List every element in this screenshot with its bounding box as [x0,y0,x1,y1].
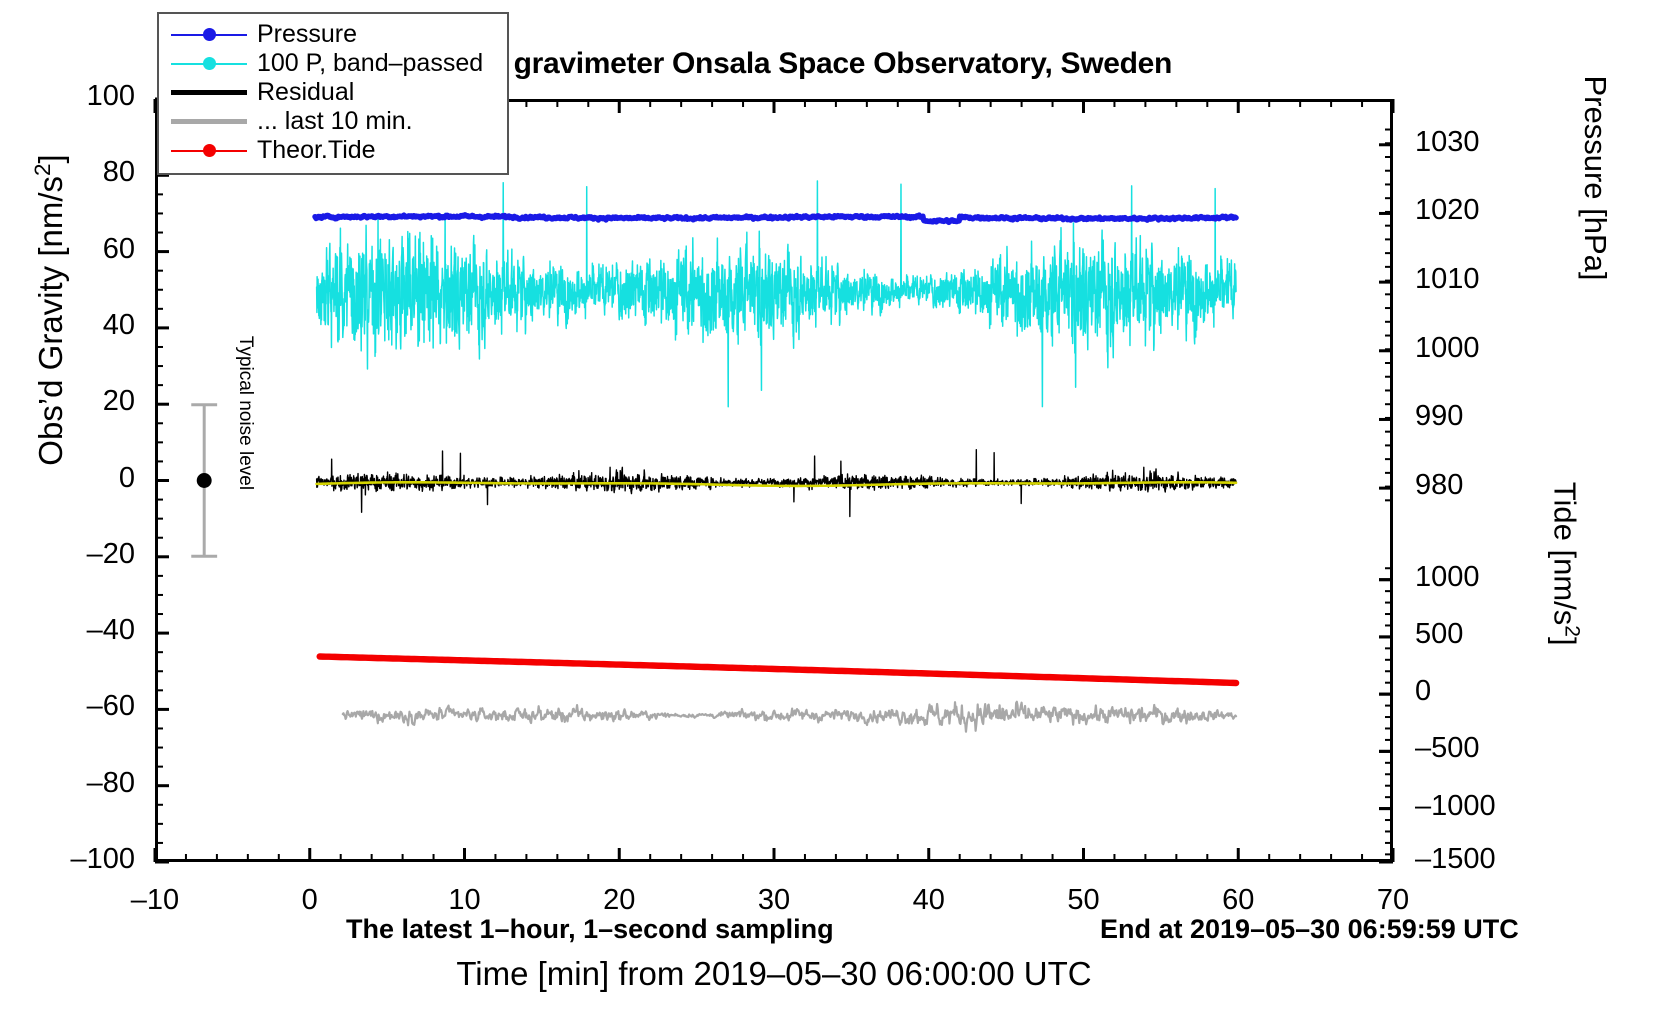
x-tick-label: 40 [869,884,989,917]
legend-item-label: Residual [251,78,354,107]
legend-line-swatch [171,90,247,95]
legend-item-1: 100 P, band–passed [167,49,499,78]
y-tick-label-left: 20 [15,385,135,418]
y-tick-label-left: 40 [15,309,135,342]
y-tick-label-left: –40 [15,614,135,647]
y-tick-label-left: –100 [15,843,135,876]
y-tick-label-tide: 0 [1415,675,1545,708]
x-tick-label: 70 [1333,884,1453,917]
series-theor-tide [320,657,1236,683]
legend-item-label: Theor.Tide [251,136,376,165]
y-tick-label-pressure: 1030 [1415,126,1545,159]
y-tick-label-pressure: 980 [1415,469,1545,502]
y-tick-label-tide: 1000 [1415,561,1545,594]
legend: Pressure100 P, band–passedResidual... la… [157,12,509,175]
y-tick-label-pressure: 1020 [1415,194,1545,227]
y-tick-label-left: –20 [15,538,135,571]
y-axis-title-tide: Tide [nm/s2] [1546,434,1583,694]
y-tick-label-left: 60 [15,233,135,266]
legend-dot-marker [203,144,216,157]
legend-line-swatch [171,119,247,124]
legend-key-icon [167,54,251,74]
series-pressure [315,215,1236,223]
data-series-canvas [158,102,1390,859]
legend-key-icon [167,83,251,103]
y-tick-label-left: 80 [15,156,135,189]
y-tick-label-left: –60 [15,690,135,723]
legend-key-icon [167,25,251,45]
annotation-noise-center-dot [197,473,212,488]
y-tick-label-pressure: 990 [1415,400,1545,433]
legend-item-label: Pressure [251,20,357,49]
annotation-noise-bar [191,405,217,556]
x-tick-label: 60 [1178,884,1298,917]
y-tick-label-tide: –1500 [1415,843,1545,876]
legend-key-icon [167,112,251,132]
y-tick-label-pressure: 1010 [1415,263,1545,296]
x-tick-label: 20 [559,884,679,917]
legend-dot-marker [203,28,216,41]
plot-area: The latest 1–hour, 1–second sampling End… [155,99,1393,862]
gravimeter-figure: SCG_054 gravimeter Onsala Space Observat… [0,0,1660,1020]
legend-item-label: ... last 10 min. [251,107,413,136]
x-tick-label: –10 [95,884,215,917]
x-tick-label: 30 [714,884,834,917]
legend-item-3: ... last 10 min. [167,107,499,136]
legend-dot-marker [203,57,216,70]
y-tick-label-left: –80 [15,767,135,800]
legend-item-0: Pressure [167,20,499,49]
y-tick-label-tide: 500 [1415,618,1545,651]
x-tick-label: 0 [250,884,370,917]
legend-item-2: Residual [167,78,499,107]
series-last-10-min [343,702,1236,732]
legend-item-label: 100 P, band–passed [251,49,483,78]
y-tick-label-pressure: 1000 [1415,332,1545,365]
y-tick-label-tide: –500 [1415,732,1545,765]
y-tick-label-left: 100 [15,80,135,113]
x-axis-title: Time [min] from 2019–05–30 06:00:00 UTC [155,955,1393,993]
y-axis-title-pressure: Pressure [hPa] [1577,28,1613,328]
annotation-end-time: End at 2019–05–30 06:59:59 UTC [1100,914,1519,945]
annotation-sampling-note: The latest 1–hour, 1–second sampling [346,914,834,945]
y-tick-label-tide: –1000 [1415,790,1545,823]
x-tick-label: 10 [405,884,525,917]
legend-item-4: Theor.Tide [167,136,499,165]
y-tick-label-left: 0 [15,462,135,495]
x-tick-label: 50 [1024,884,1144,917]
annotation-noise-label: Typical noise level [234,323,256,503]
legend-key-icon [167,141,251,161]
